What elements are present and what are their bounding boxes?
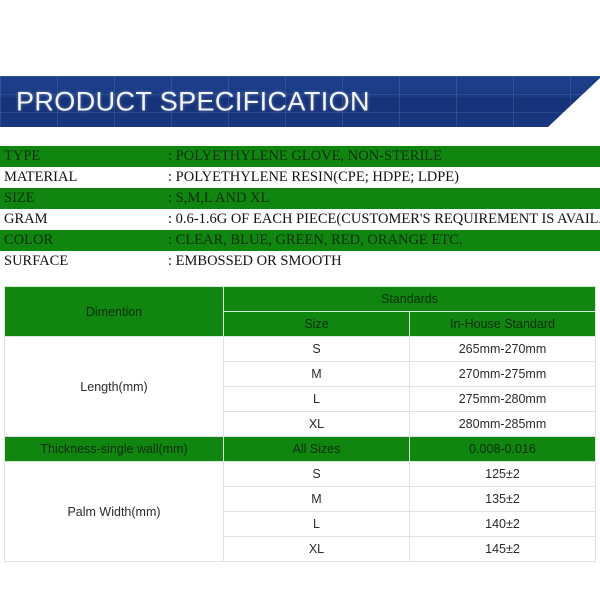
spec-row: COLOR: CLEAR, BLUE, GREEN, RED, ORANGE E… bbox=[0, 230, 600, 251]
dimension-name-cell: Length(mm) bbox=[5, 337, 224, 437]
spec-value: : CLEAR, BLUE, GREEN, RED, ORANGE ETC. bbox=[168, 230, 462, 251]
page-banner: PRODUCT SPECIFICATION bbox=[0, 76, 600, 127]
specification-list: TYPE: POLYETHYLENE GLOVE, NON-STERILEMAT… bbox=[0, 146, 600, 272]
size-cell: XL bbox=[224, 412, 410, 437]
page-title: PRODUCT SPECIFICATION bbox=[16, 86, 370, 117]
table-header-row: DimentionStandards bbox=[5, 287, 596, 312]
dimension-table: DimentionStandardsSizeIn-House StandardL… bbox=[4, 286, 596, 562]
spec-row: TYPE: POLYETHYLENE GLOVE, NON-STERILE bbox=[0, 146, 600, 167]
standard-cell: 125±2 bbox=[410, 462, 596, 487]
spec-value: : S,M,L AND XL bbox=[168, 188, 269, 209]
size-cell: All Sizes bbox=[224, 437, 410, 462]
spec-value: : EMBOSSED OR SMOOTH bbox=[168, 251, 342, 272]
table-row: Length(mm)S265mm-270mm bbox=[5, 337, 596, 362]
spec-row: SIZE: S,M,L AND XL bbox=[0, 188, 600, 209]
spec-row: SURFACE: EMBOSSED OR SMOOTH bbox=[0, 251, 600, 272]
header-standards: Standards bbox=[224, 287, 596, 312]
size-cell: L bbox=[224, 387, 410, 412]
standard-cell: 140±2 bbox=[410, 512, 596, 537]
spec-value: : 0.6-1.6G OF EACH PIECE(CUSTOMER'S REQU… bbox=[168, 209, 600, 230]
header-in-house-standard: In-House Standard bbox=[410, 312, 596, 337]
standard-cell: 280mm-285mm bbox=[410, 412, 596, 437]
size-cell: M bbox=[224, 362, 410, 387]
dimension-name-cell: Palm Width(mm) bbox=[5, 462, 224, 562]
table-row: Palm Width(mm)S125±2 bbox=[5, 462, 596, 487]
spec-label: SURFACE bbox=[4, 251, 68, 272]
spec-label: GRAM bbox=[4, 209, 48, 230]
size-cell: M bbox=[224, 487, 410, 512]
dimension-name-cell: Thickness-single wall(mm) bbox=[5, 437, 224, 462]
standard-cell: 135±2 bbox=[410, 487, 596, 512]
header-dimension: Dimention bbox=[5, 287, 224, 337]
size-cell: L bbox=[224, 512, 410, 537]
standard-cell: 145±2 bbox=[410, 537, 596, 562]
standard-cell: 265mm-270mm bbox=[410, 337, 596, 362]
spec-label: COLOR bbox=[4, 230, 53, 251]
spec-row: MATERIAL: POLYETHYLENE RESIN(CPE; HDPE; … bbox=[0, 167, 600, 188]
spec-label: SIZE bbox=[4, 188, 35, 209]
size-cell: S bbox=[224, 462, 410, 487]
spec-value: : POLYETHYLENE RESIN(CPE; HDPE; LDPE) bbox=[168, 167, 459, 188]
size-cell: XL bbox=[224, 537, 410, 562]
spec-label: MATERIAL bbox=[4, 167, 77, 188]
dimension-table-body: DimentionStandardsSizeIn-House StandardL… bbox=[5, 287, 596, 562]
standard-cell: 270mm-275mm bbox=[410, 362, 596, 387]
table-row: Thickness-single wall(mm)All Sizes0.008-… bbox=[5, 437, 596, 462]
size-cell: S bbox=[224, 337, 410, 362]
spec-value: : POLYETHYLENE GLOVE, NON-STERILE bbox=[168, 146, 442, 167]
standard-cell: 0.008-0.016 bbox=[410, 437, 596, 462]
header-size: Size bbox=[224, 312, 410, 337]
standard-cell: 275mm-280mm bbox=[410, 387, 596, 412]
spec-label: TYPE bbox=[4, 146, 40, 167]
spec-row: GRAM: 0.6-1.6G OF EACH PIECE(CUSTOMER'S … bbox=[0, 209, 600, 230]
